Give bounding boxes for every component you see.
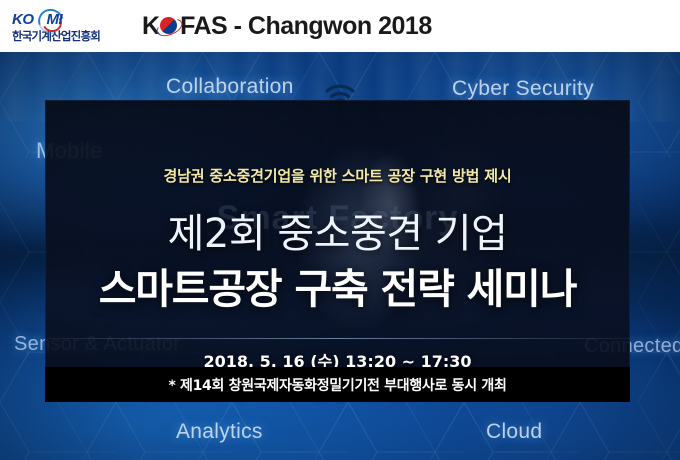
kofas-logo: K FAS - Changwon 2018 xyxy=(142,12,432,41)
keyword-cyber-security: Cyber Security xyxy=(452,77,594,101)
poster-page: KO MI 한국기계산업진흥회 K FAS - Changwon 2018 xyxy=(0,0,680,460)
komi-logo-mi-text: MI xyxy=(47,12,63,27)
komi-logo-ko-text: KO xyxy=(12,12,34,27)
kofas-letter-k: K xyxy=(142,12,159,41)
header-bar: KO MI 한국기계산업진흥회 K FAS - Changwon 2018 xyxy=(0,0,680,52)
komi-logo: KO MI 한국기계산업진흥회 xyxy=(12,10,120,43)
kofas-wordmark-text: FAS - Changwon 2018 xyxy=(180,12,432,41)
komi-logo-mark: KO MI xyxy=(12,10,112,29)
keyword-collaboration: Collaboration xyxy=(166,75,294,99)
poster-content-card: Smart Factory 경남권 중소중견기업을 위한 스마트 공장 구현 방… xyxy=(45,100,630,400)
poster-subtitle: 경남권 중소중견기업을 위한 스마트 공장 구현 방법 제시 xyxy=(45,165,630,186)
footnote-bar: * 제14회 창원국제자동화정밀기기전 부대행사로 동시 개최 xyxy=(45,367,630,402)
title-divider xyxy=(45,338,630,339)
poster-artwork: Collaboration Cyber Security Mobile Sens… xyxy=(0,52,680,460)
keyword-cloud: Cloud xyxy=(486,420,542,444)
taegeuk-icon xyxy=(159,16,179,36)
poster-title-line1: 제2회 중소중견 기업 xyxy=(45,212,630,256)
poster-title-line2: 스마트공장 구축 전략 세미나 xyxy=(45,266,630,312)
keyword-analytics: Analytics xyxy=(176,420,263,444)
footnote-text: * 제14회 창원국제자동화정밀기기전 부대행사로 동시 개최 xyxy=(168,375,506,395)
